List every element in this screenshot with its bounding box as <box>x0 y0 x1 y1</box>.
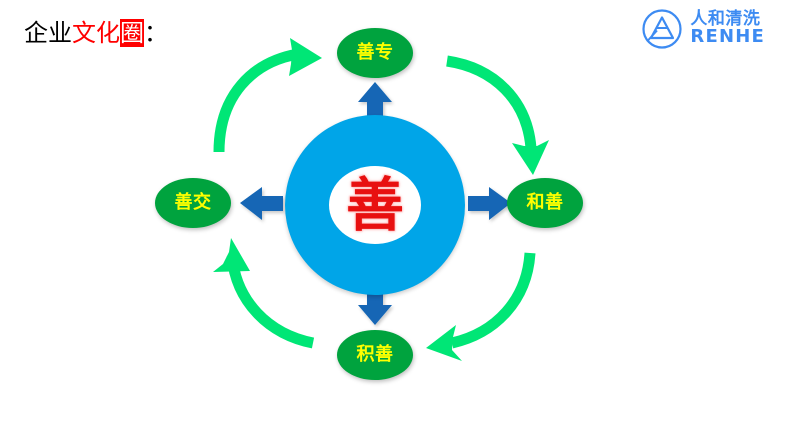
node-left-label: 善交 <box>175 194 212 212</box>
straight-arrow-right <box>468 187 511 220</box>
culture-circle-diagram: 善 善专 和善 积善 善交 <box>0 0 795 441</box>
node-top-label: 善专 <box>357 44 394 62</box>
node-bottom-label: 积善 <box>357 346 394 364</box>
curved-arrow-bottom-right <box>426 253 530 361</box>
center-glyph: 善 <box>346 176 404 234</box>
straight-arrow-left <box>240 187 283 220</box>
center-hub: 善 <box>285 115 465 295</box>
curved-arrow-top-left <box>219 38 322 152</box>
node-right[interactable]: 和善 <box>507 178 583 228</box>
node-top[interactable]: 善专 <box>337 28 413 78</box>
node-left[interactable]: 善交 <box>155 178 231 228</box>
curved-arrow-bottom-left <box>213 238 313 343</box>
curved-arrow-top-right <box>447 61 549 175</box>
node-bottom[interactable]: 积善 <box>337 330 413 380</box>
center-hub-inner: 善 <box>329 166 421 244</box>
node-right-label: 和善 <box>527 194 564 212</box>
slide-canvas: 企业文化圈： 人和清洗 RENHE <box>0 0 795 441</box>
